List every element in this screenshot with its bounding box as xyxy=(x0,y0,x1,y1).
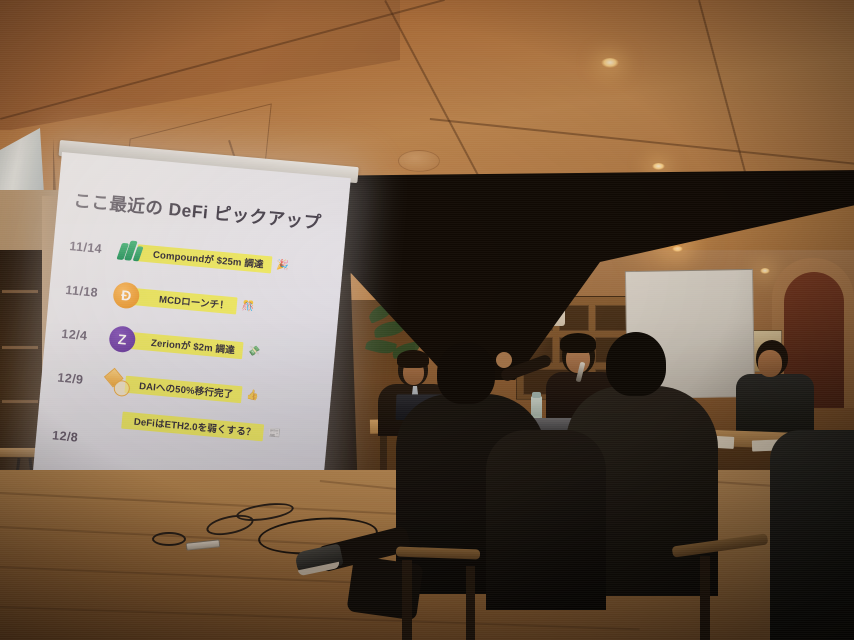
zerion-glyph: Z xyxy=(108,325,136,353)
alcove-shelf xyxy=(2,400,38,403)
row-date: 12/9 xyxy=(57,371,106,389)
dai-coin-icon: Ð xyxy=(112,281,140,309)
row-highlight-bar: MCDローンチ！ xyxy=(132,288,237,314)
row-text: Zerionが $2m 調達 xyxy=(151,335,236,357)
attendee-face xyxy=(758,350,782,377)
photo-scene: ここ最近の DeFi ピックアップ 11/14 Compoundが $25m 調… xyxy=(0,0,854,640)
alcove-shelf xyxy=(2,346,38,349)
slide-rows: 11/14 Compoundが $25m 調達 🎉 xyxy=(52,224,333,467)
zerion-logo-icon: Z xyxy=(108,325,136,353)
row-icon-placeholder xyxy=(100,413,128,441)
row-date: 11/18 xyxy=(65,283,114,301)
coin-outline xyxy=(113,380,130,397)
audience-member-body xyxy=(770,430,854,640)
compound-bars xyxy=(116,237,144,265)
attendee-body xyxy=(736,374,814,438)
ceiling-downlight xyxy=(760,268,770,274)
floor-plank-line xyxy=(0,492,419,516)
panelist-hair xyxy=(397,350,429,368)
row-date: 11/14 xyxy=(69,239,118,257)
confetti-icon: 🎊 xyxy=(241,300,254,312)
ceiling-downlight xyxy=(652,163,665,170)
smoke-detector-icon xyxy=(398,150,440,172)
migration-glyph xyxy=(104,369,134,399)
speaker-hair xyxy=(560,333,596,353)
dai-migration-icon xyxy=(104,369,132,397)
row-highlight-bar: DeFiはETH2.0を弱くする？ xyxy=(121,411,264,441)
row-text: DAIへの50%移行完了 xyxy=(139,378,234,401)
audience-member-head xyxy=(606,332,666,396)
row-text: Compoundが $25m 調達 xyxy=(153,247,265,271)
row-highlight-bar: Zerionが $2m 調達 xyxy=(128,331,243,358)
floor-cable xyxy=(152,532,186,546)
news-icon: 📰 xyxy=(268,427,281,439)
row-highlight-bar: Compoundが $25m 調達 xyxy=(136,244,272,273)
compound-logo-icon xyxy=(116,237,144,265)
row-text: MCDローンチ！ xyxy=(158,291,229,311)
row-highlight-bar: DAIへの50%移行完了 xyxy=(124,375,242,402)
speaker-hand xyxy=(496,352,512,368)
chair-leg xyxy=(466,566,475,640)
celebration-icon: 🎉 xyxy=(276,259,289,271)
presentation-slide: ここ最近の DeFi ピックアップ 11/14 Compoundが $25m 調… xyxy=(31,152,351,517)
table-leg xyxy=(380,430,387,470)
ceiling-downlight xyxy=(601,58,619,68)
ceiling-seam xyxy=(430,118,854,166)
audience-member-head xyxy=(437,342,495,404)
audience-member-body xyxy=(486,430,606,610)
money-icon: 💸 xyxy=(247,345,260,357)
projection-screen: ここ最近の DeFi ピックアップ 11/14 Compoundが $25m 調… xyxy=(31,152,351,517)
row-date: 12/4 xyxy=(61,327,110,345)
row-text: DeFiはETH2.0を弱くする？ xyxy=(133,414,256,439)
thumbs-up-icon: 👍 xyxy=(246,389,259,401)
chair-leg xyxy=(700,556,710,640)
bottle-cap xyxy=(532,392,541,398)
chair-leg xyxy=(402,560,412,640)
row-date: 12/8 xyxy=(52,428,101,446)
dai-coin-glyph: Ð xyxy=(112,281,140,309)
alcove-shelf xyxy=(2,290,38,293)
